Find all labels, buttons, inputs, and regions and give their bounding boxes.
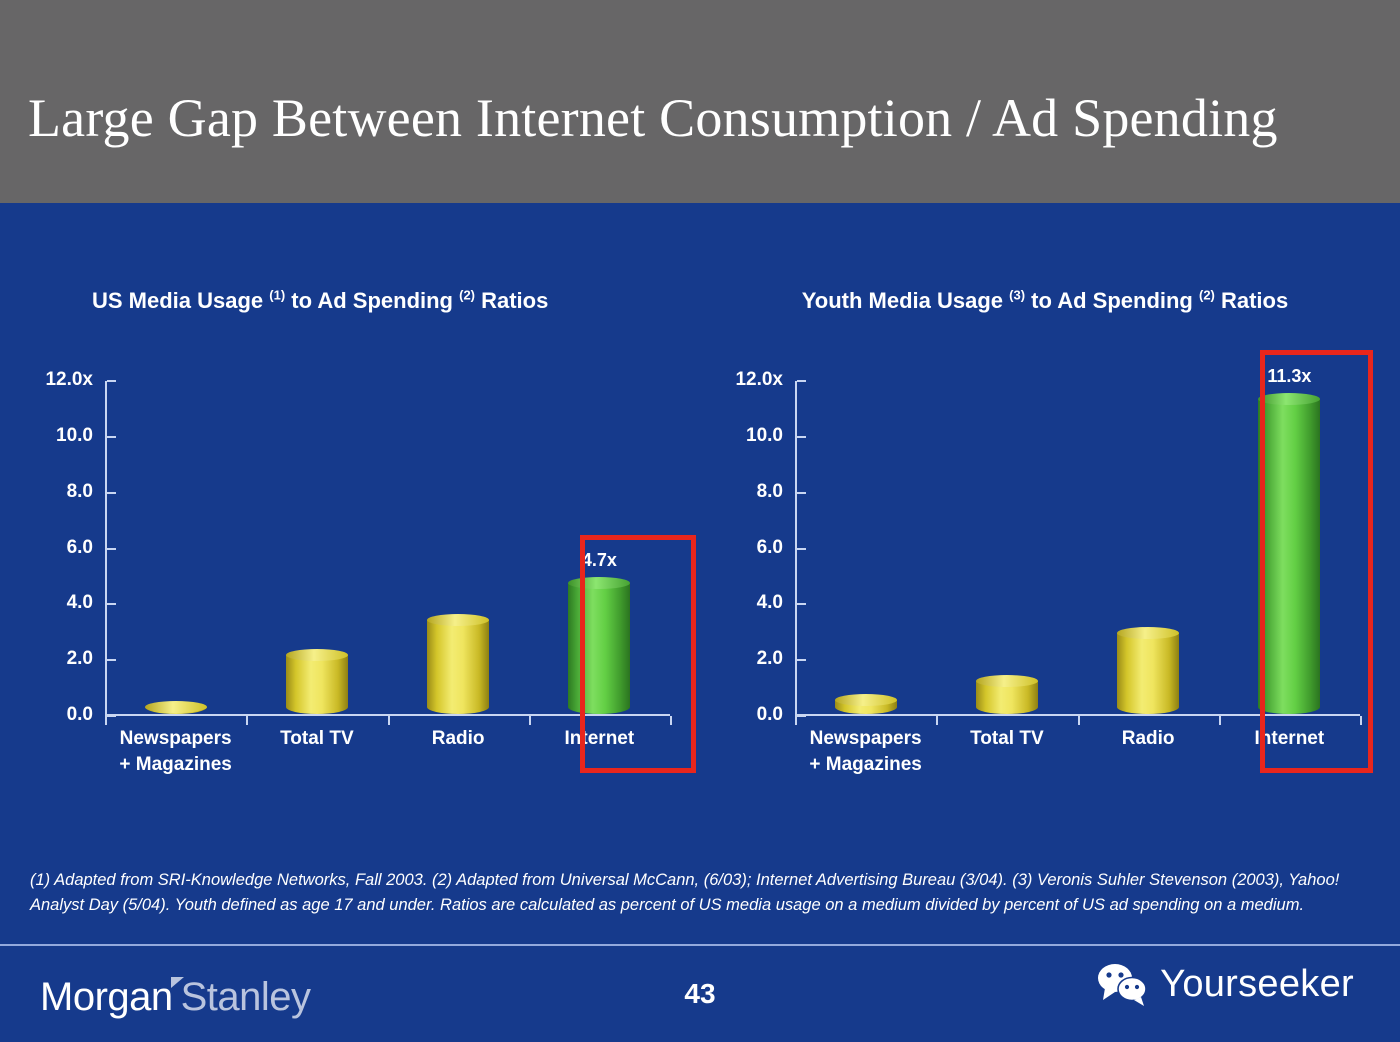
bar-body [427, 620, 489, 714]
y-tick: 2.0 [107, 659, 116, 661]
chart-title-right-footnote-2: (2) [1199, 288, 1215, 303]
chart-title-right-part-a: Youth Media Usage [802, 288, 1009, 313]
x-tick [795, 716, 797, 725]
bar-cap [427, 614, 489, 626]
bar-cap [1117, 627, 1179, 639]
bar-value-label: 11.3x [1267, 366, 1311, 387]
chart-title-left: US Media Usage (1) to Ad Spending (2) Ra… [10, 284, 700, 318]
y-tick-label: 6.0 [757, 537, 783, 559]
chart-panel-us-media-usage: US Media Usage (1) to Ad Spending (2) Ra… [10, 270, 700, 810]
x-tick [1219, 716, 1221, 725]
wechat-icon [1096, 962, 1148, 1006]
y-tick: 8.0 [107, 492, 116, 494]
chart-title-right-part-b: to Ad Spending [1025, 288, 1199, 313]
chart-title-right-footnote-3: (3) [1009, 288, 1025, 303]
plot-area-left: 12.0x10.08.06.04.02.00.0 4.7x Newspapers… [105, 381, 670, 716]
bar-category-0 [835, 700, 897, 714]
bar-category-2 [1117, 633, 1179, 714]
bar-internet: 4.7x [568, 583, 630, 714]
plot-area-right: 12.0x10.08.06.04.02.00.0 11.3x Newspaper… [795, 381, 1360, 716]
bar-value-label: 4.7x [582, 550, 617, 571]
y-tick-label: 8.0 [757, 481, 783, 503]
y-tick-label: 10.0 [746, 425, 783, 447]
y-tick: 10.0 [797, 436, 806, 438]
x-tick [1078, 716, 1080, 725]
chart-title-left-part-c: Ratios [475, 288, 548, 313]
y-tick-label: 2.0 [757, 648, 783, 670]
x-tick [670, 716, 672, 725]
bar-cap [1258, 393, 1320, 405]
y-tick: 2.0 [797, 659, 806, 661]
category-label: Internet [1199, 726, 1379, 752]
y-tick: 0.0 [107, 715, 116, 717]
bar-cap [145, 701, 207, 713]
chart-title-left-part-a: US Media Usage [92, 288, 269, 313]
y-tick-label: 0.0 [757, 704, 783, 726]
y-tick: 6.0 [797, 548, 806, 550]
bar-cap [286, 649, 348, 661]
x-tick [529, 716, 531, 725]
brand-watermark: Yourseeker [1096, 962, 1354, 1006]
y-tick: 12.0x [107, 380, 116, 382]
brand-name: Yourseeker [1160, 963, 1354, 1006]
bar-body [568, 583, 630, 714]
bar-body [1258, 399, 1320, 714]
bar-category-1 [976, 681, 1038, 715]
y-tick: 4.0 [107, 603, 116, 605]
chart-title-left-footnote-2: (2) [459, 288, 475, 303]
y-tick-label: 2.0 [67, 648, 93, 670]
footnotes: (1) Adapted from SRI-Knowledge Networks,… [30, 868, 1370, 918]
y-tick-label: 0.0 [67, 704, 93, 726]
x-tick [105, 716, 107, 725]
y-tick-label: 10.0 [56, 425, 93, 447]
bar-body [286, 655, 348, 714]
category-label: Internet [509, 726, 689, 752]
bar-category-2 [427, 620, 489, 714]
chart-panel-youth-media-usage: Youth Media Usage (3) to Ad Spending (2)… [700, 270, 1390, 810]
y-tick: 12.0x [797, 380, 806, 382]
y-tick: 0.0 [797, 715, 806, 717]
y-tick-label: 4.0 [757, 592, 783, 614]
y-tick: 8.0 [797, 492, 806, 494]
chart-title-right-part-c: Ratios [1215, 288, 1288, 313]
bar-cap [976, 675, 1038, 687]
y-tick: 4.0 [797, 603, 806, 605]
bar-internet: 11.3x [1258, 399, 1320, 714]
y-tick-label: 8.0 [67, 481, 93, 503]
y-tick: 10.0 [107, 436, 116, 438]
y-tick-label: 12.0x [735, 369, 783, 391]
footer-divider [0, 944, 1400, 946]
chart-title-left-footnote-1: (1) [269, 288, 285, 303]
y-tick: 6.0 [107, 548, 116, 550]
bar-body [1117, 633, 1179, 714]
bar-category-0 [145, 707, 207, 714]
x-tick [936, 716, 938, 725]
x-tick [246, 716, 248, 725]
x-tick [388, 716, 390, 725]
x-tick [1360, 716, 1362, 725]
y-tick-label: 4.0 [67, 592, 93, 614]
y-tick-label: 12.0x [45, 369, 93, 391]
bar-category-1 [286, 655, 348, 714]
page-title: Large Gap Between Internet Consumption /… [28, 90, 1378, 147]
y-tick-label: 6.0 [67, 537, 93, 559]
bar-cap [568, 577, 630, 589]
chart-title-left-part-b: to Ad Spending [285, 288, 459, 313]
chart-title-right: Youth Media Usage (3) to Ad Spending (2)… [700, 284, 1390, 318]
slide: Large Gap Between Internet Consumption /… [0, 0, 1400, 1042]
bar-cap [835, 694, 897, 706]
